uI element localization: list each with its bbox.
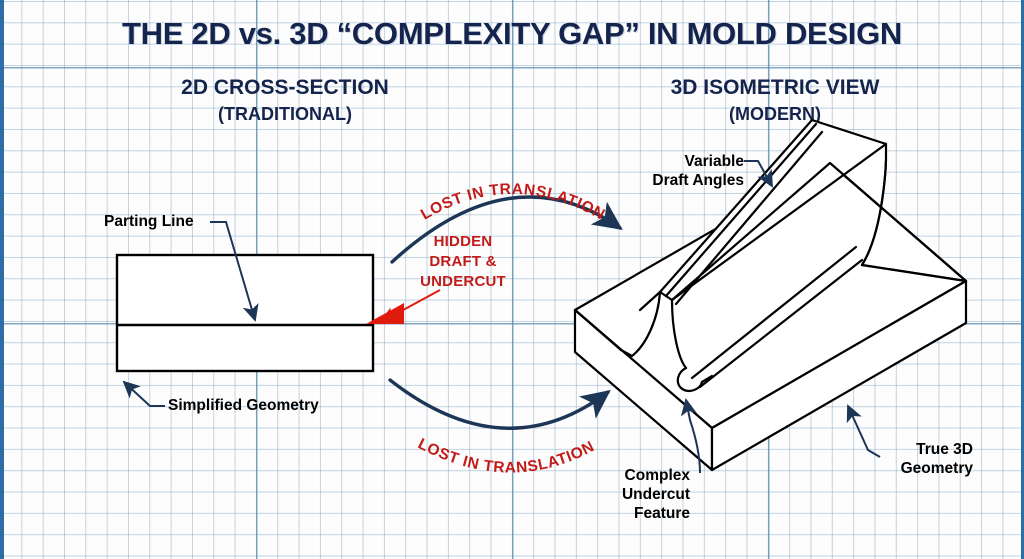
true-3d-line-1: True 3D [823,440,973,459]
label-hidden-draft-undercut: HIDDEN DRAFT & UNDERCUT [403,232,523,292]
true-3d-line-2: Geometry [823,459,973,478]
complex-undercut-line-3: Feature [530,504,690,523]
hidden-line-2: DRAFT & [403,252,523,272]
complex-undercut-line-1: Complex [530,466,690,485]
label-true-3d-geometry: True 3D Geometry [823,440,973,478]
lost-in-translation-arrow-bottom [390,380,608,428]
label-variable-draft-angles: Variable Draft Angles [584,152,744,190]
hidden-line-1: HIDDEN [403,232,523,252]
hidden-draft-pointer [366,290,440,324]
label-complex-undercut-feature: Complex Undercut Feature [530,466,690,523]
label-simplified-geometry: Simplified Geometry [168,396,319,415]
arc-top-caption: LOST IN TRANSLATION [418,181,608,224]
hidden-line-3: UNDERCUT [403,272,523,292]
cross-section-drawing [117,255,373,371]
label-parting-line: Parting Line [104,212,194,231]
variable-draft-line-1: Variable [584,152,744,171]
variable-draft-line-2: Draft Angles [584,171,744,190]
diagram-canvas: THE 2D vs. 3D “COMPLEXITY GAP” IN MOLD D… [0,0,1024,559]
simplified-geometry-leader [124,382,165,406]
complex-undercut-line-2: Undercut [530,485,690,504]
